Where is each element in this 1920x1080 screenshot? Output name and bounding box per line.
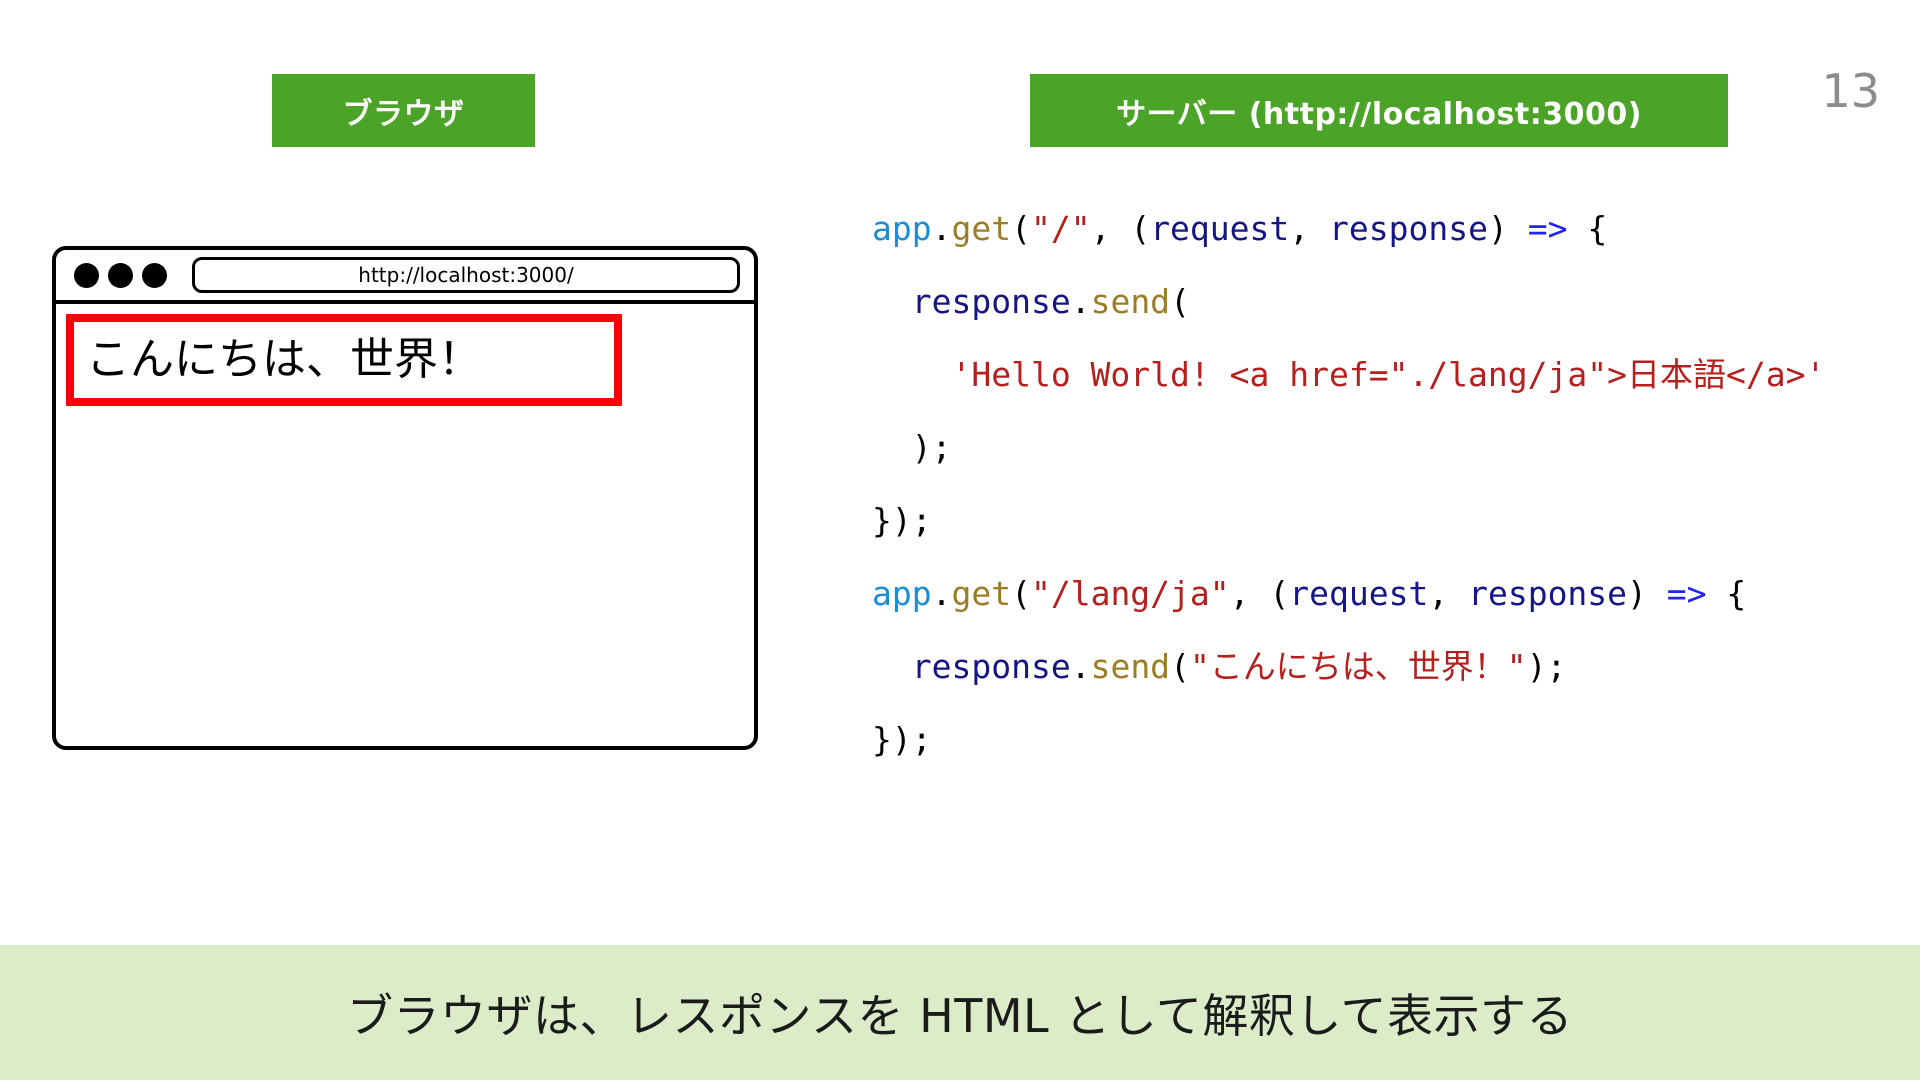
code-token-punc: ( xyxy=(1011,209,1031,248)
code-line: ); xyxy=(872,411,1892,484)
code-token-punc: . xyxy=(1071,647,1091,686)
browser-viewport: こんにちは、世界！ xyxy=(56,304,754,746)
code-token-str: "/lang/ja" xyxy=(1031,574,1230,613)
code-token-obj: app xyxy=(872,209,932,248)
maximize-dot-icon[interactable] xyxy=(142,263,167,288)
code-indent xyxy=(872,355,951,394)
code-token-str: "こんにちは、世界！" xyxy=(1190,647,1527,686)
code-line: app.get("/lang/ja", (request, response) … xyxy=(872,557,1892,630)
code-token-str: 'Hello World! <a href="./lang/ja">日本語</a… xyxy=(951,355,1825,394)
code-token-punc: ) xyxy=(1627,574,1667,613)
close-dot-icon[interactable] xyxy=(74,263,99,288)
code-token-punc: ); xyxy=(912,428,952,467)
address-bar[interactable]: http://localhost:3000/ xyxy=(192,257,740,293)
code-line: response.send("こんにちは、世界！"); xyxy=(872,630,1892,703)
code-token-punc: ); xyxy=(1527,647,1567,686)
code-line: app.get("/", (request, response) => { xyxy=(872,192,1892,265)
code-token-punc: . xyxy=(1071,282,1091,321)
code-line: }); xyxy=(872,484,1892,557)
code-line: 'Hello World! <a href="./lang/ja">日本語</a… xyxy=(872,338,1892,411)
code-token-fn: send xyxy=(1091,647,1170,686)
code-token-param: response xyxy=(1329,209,1488,248)
footer-caption: ブラウザは、レスポンスを HTML として解釈して表示する xyxy=(347,980,1573,1046)
code-token-punc: }); xyxy=(872,720,932,759)
section-header-server: サーバー (http://localhost:3000) xyxy=(1030,74,1728,147)
code-token-punc: { xyxy=(1567,209,1607,248)
code-token-fn: get xyxy=(951,209,1011,248)
code-token-param: response xyxy=(912,647,1071,686)
code-token-punc: . xyxy=(932,209,952,248)
code-token-param: response xyxy=(1468,574,1627,613)
code-token-str: "/" xyxy=(1031,209,1091,248)
code-token-param: response xyxy=(912,282,1071,321)
code-line: }); xyxy=(872,703,1892,776)
code-token-param: request xyxy=(1150,209,1289,248)
code-indent xyxy=(872,647,912,686)
section-header-browser: ブラウザ xyxy=(272,74,535,147)
code-token-punc: }); xyxy=(872,501,932,540)
footer-band: ブラウザは、レスポンスを HTML として解釈して表示する xyxy=(0,945,1920,1080)
code-token-fn: get xyxy=(951,574,1011,613)
code-token-obj: app xyxy=(872,574,932,613)
minimize-dot-icon[interactable] xyxy=(108,263,133,288)
section-header-server-label: サーバー (http://localhost:3000) xyxy=(1116,89,1642,133)
highlight-box: こんにちは、世界！ xyxy=(66,314,622,406)
code-token-fn: send xyxy=(1091,282,1170,321)
code-token-arrow: => xyxy=(1528,209,1568,248)
address-bar-url: http://localhost:3000/ xyxy=(358,263,573,287)
code-token-punc: ) xyxy=(1488,209,1528,248)
code-token-punc: { xyxy=(1707,574,1747,613)
code-token-punc: ( xyxy=(1170,282,1190,321)
browser-window-mockup: http://localhost:3000/ こんにちは、世界！ xyxy=(52,246,758,750)
code-indent xyxy=(872,282,912,321)
code-token-punc: ( xyxy=(1170,647,1190,686)
code-token-arrow: => xyxy=(1667,574,1707,613)
section-header-browser-label: ブラウザ xyxy=(343,89,465,133)
code-token-punc: , xyxy=(1428,574,1468,613)
code-line: response.send( xyxy=(872,265,1892,338)
code-token-punc: ( xyxy=(1011,574,1031,613)
code-token-param: request xyxy=(1289,574,1428,613)
rendered-page-text: こんにちは、世界！ xyxy=(86,338,482,382)
code-token-punc: , ( xyxy=(1091,209,1151,248)
server-code-block: app.get("/", (request, response) => { re… xyxy=(872,192,1892,776)
code-indent xyxy=(872,428,912,467)
code-token-punc: . xyxy=(932,574,952,613)
code-token-punc: , ( xyxy=(1230,574,1290,613)
browser-titlebar: http://localhost:3000/ xyxy=(56,250,754,304)
code-token-punc: , xyxy=(1289,209,1329,248)
page-number: 13 xyxy=(1821,68,1880,114)
